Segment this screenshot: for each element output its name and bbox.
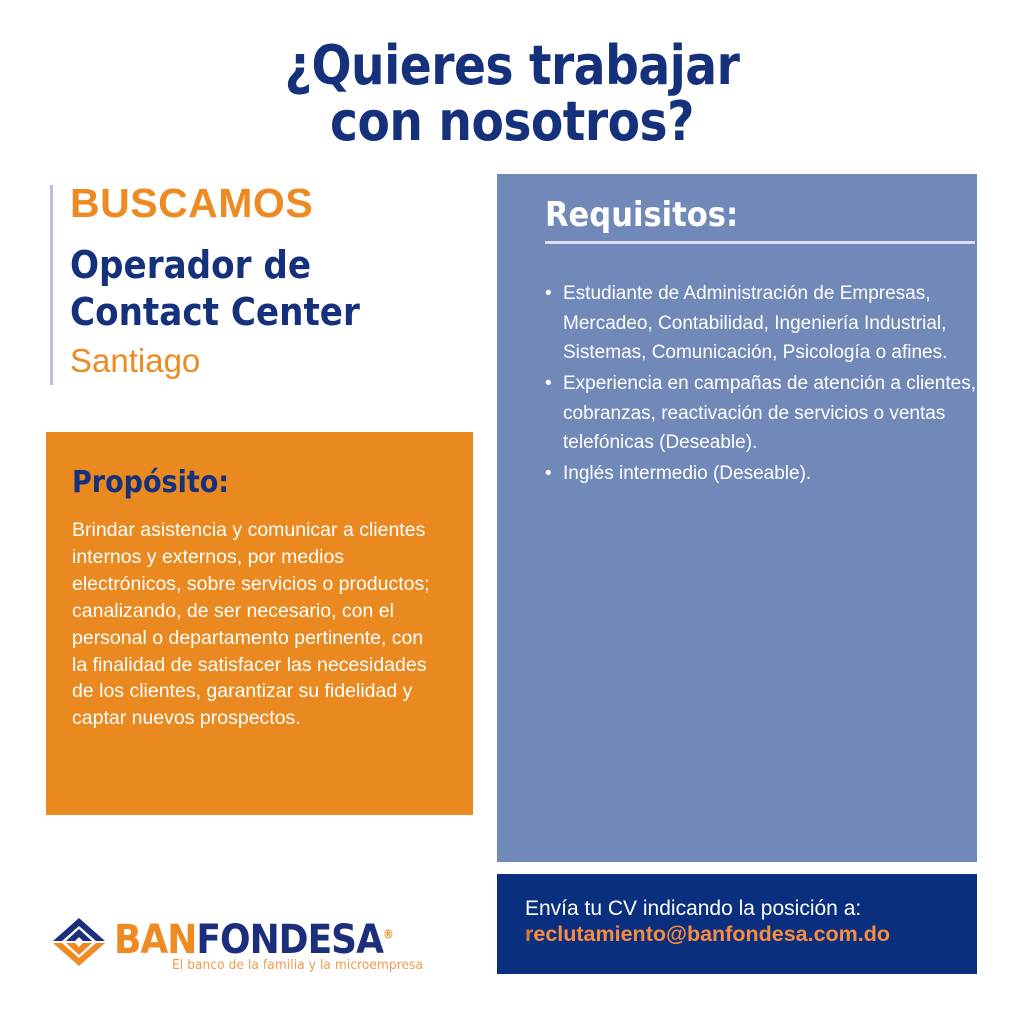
bullet-icon: • (545, 369, 552, 399)
list-item-text: Estudiante de Administración de Empresas… (563, 283, 947, 363)
bullet-icon: • (545, 459, 552, 489)
cv-submission-panel: Envía tu CV indicando la posición a: rec… (497, 874, 977, 974)
page-title: ¿Quieres trabajar con nosotros? (15, 38, 1008, 150)
recruitment-email[interactable]: reclutamiento@banfondesa.com.do (525, 922, 890, 947)
list-item: • Experiencia en campañas de atención a … (527, 369, 977, 458)
headline-line-1: ¿Quieres trabajar (285, 34, 740, 97)
job-role-line-1: Operador de (70, 242, 360, 289)
job-role-line-2: Contact Center (70, 289, 360, 336)
requirements-list: • Estudiante de Administración de Empres… (527, 279, 977, 489)
purpose-panel: Propósito: Brindar asistencia y comunica… (46, 432, 473, 815)
requirements-title: Requisitos: (545, 198, 738, 232)
purpose-body-text: Brindar asistencia y comunicar a cliente… (72, 517, 442, 732)
list-item: • Estudiante de Administración de Empres… (527, 279, 977, 368)
cv-instruction-text: Envía tu CV indicando la posición a: (525, 897, 861, 921)
vertical-accent-rule (50, 185, 53, 385)
email-remainder: eclutamiento@banfondesa.com.do (533, 922, 890, 946)
registered-trademark-icon: ® (383, 928, 393, 942)
job-posting-poster: ¿Quieres trabajar con nosotros? BUSCAMOS… (0, 0, 1024, 1024)
buscamos-label: BUSCAMOS (70, 183, 313, 224)
list-item: • Inglés intermedio (Deseable). (527, 459, 977, 489)
logo-wordmark: BANFONDESA® (114, 920, 393, 960)
job-location: Santiago (70, 344, 200, 377)
list-item-text: Inglés intermedio (Deseable). (563, 463, 811, 484)
requirements-panel: Requisitos: • Estudiante de Administraci… (497, 174, 977, 862)
list-item-text: Experiencia en campañas de atención a cl… (563, 373, 976, 453)
headline-line-2: con nosotros? (15, 94, 1008, 150)
requirements-title-divider (545, 241, 975, 244)
banfondesa-diamond-mark (52, 917, 106, 967)
bullet-icon: • (545, 279, 552, 309)
banfondesa-logo: BANFONDESA® El banco de la familia y la … (52, 915, 372, 977)
purpose-title: Propósito: (72, 468, 229, 498)
logo-tagline: El banco de la familia y la microempresa (172, 957, 423, 973)
job-role-title: Operador de Contact Center (70, 242, 360, 336)
